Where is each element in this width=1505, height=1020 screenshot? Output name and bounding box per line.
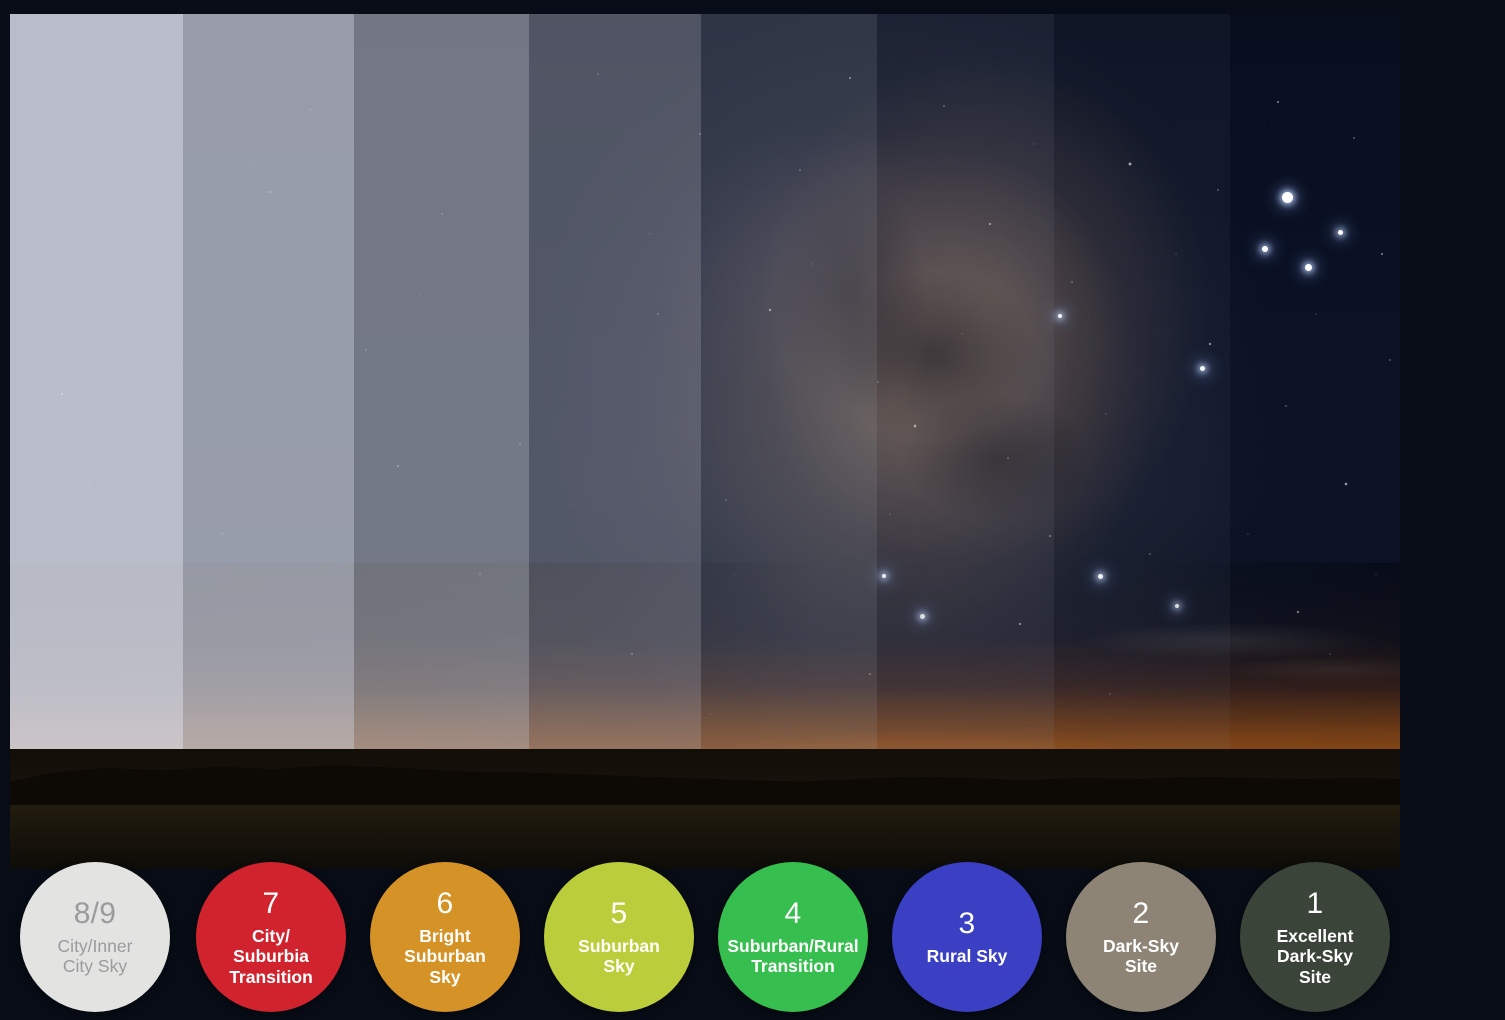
legend-label: Bright Suburban Sky: [394, 926, 496, 987]
legend-label: Dark-Sky Site: [1093, 936, 1189, 977]
legend-label: Suburban/Rural Transition: [717, 936, 868, 977]
bortle-scale-infographic: 8/9City/Inner City Sky7City/ Suburbia Tr…: [0, 0, 1505, 1020]
bortle-legend: 8/9City/Inner City Sky7City/ Suburbia Tr…: [0, 862, 1505, 1020]
legend-chip-scale-3[interactable]: 3Rural Sky: [892, 862, 1042, 1012]
legend-chip-scale-2[interactable]: 2Dark-Sky Site: [1066, 862, 1216, 1012]
legend-chip-scale-7[interactable]: 7City/ Suburbia Transition: [196, 862, 346, 1012]
legend-number: 8/9: [74, 897, 117, 932]
legend-label: City/Inner City Sky: [48, 936, 143, 977]
legend-chip-scale-5[interactable]: 5Suburban Sky: [544, 862, 694, 1012]
legend-number: 1: [1307, 887, 1324, 922]
bright-star-4: [1200, 366, 1205, 371]
bright-star-0: [1282, 192, 1293, 203]
legend-label: Rural Sky: [917, 946, 1018, 966]
bright-star-2: [1262, 246, 1268, 252]
night-sky-photo: [10, 14, 1400, 869]
legend-chip-scale-4[interactable]: 4Suburban/Rural Transition: [718, 862, 868, 1012]
legend-chip-scale-1[interactable]: 1Excellent Dark-Sky Site: [1240, 862, 1390, 1012]
legend-chip-scale-8-9[interactable]: 8/9City/Inner City Sky: [20, 862, 170, 1012]
legend-number: 4: [785, 897, 802, 932]
legend-label: Suburban Sky: [568, 936, 670, 977]
legend-number: 2: [1133, 897, 1150, 932]
legend-label: Excellent Dark-Sky Site: [1267, 926, 1364, 987]
legend-number: 7: [263, 887, 280, 922]
bright-star-3: [1338, 230, 1343, 235]
legend-chip-scale-6[interactable]: 6Bright Suburban Sky: [370, 862, 520, 1012]
bright-star-1: [1305, 264, 1312, 271]
legend-label: City/ Suburbia Transition: [219, 926, 323, 987]
legend-number: 3: [959, 907, 976, 942]
legend-number: 5: [611, 897, 628, 932]
bright-star-8: [1058, 314, 1062, 318]
legend-number: 6: [437, 887, 454, 922]
